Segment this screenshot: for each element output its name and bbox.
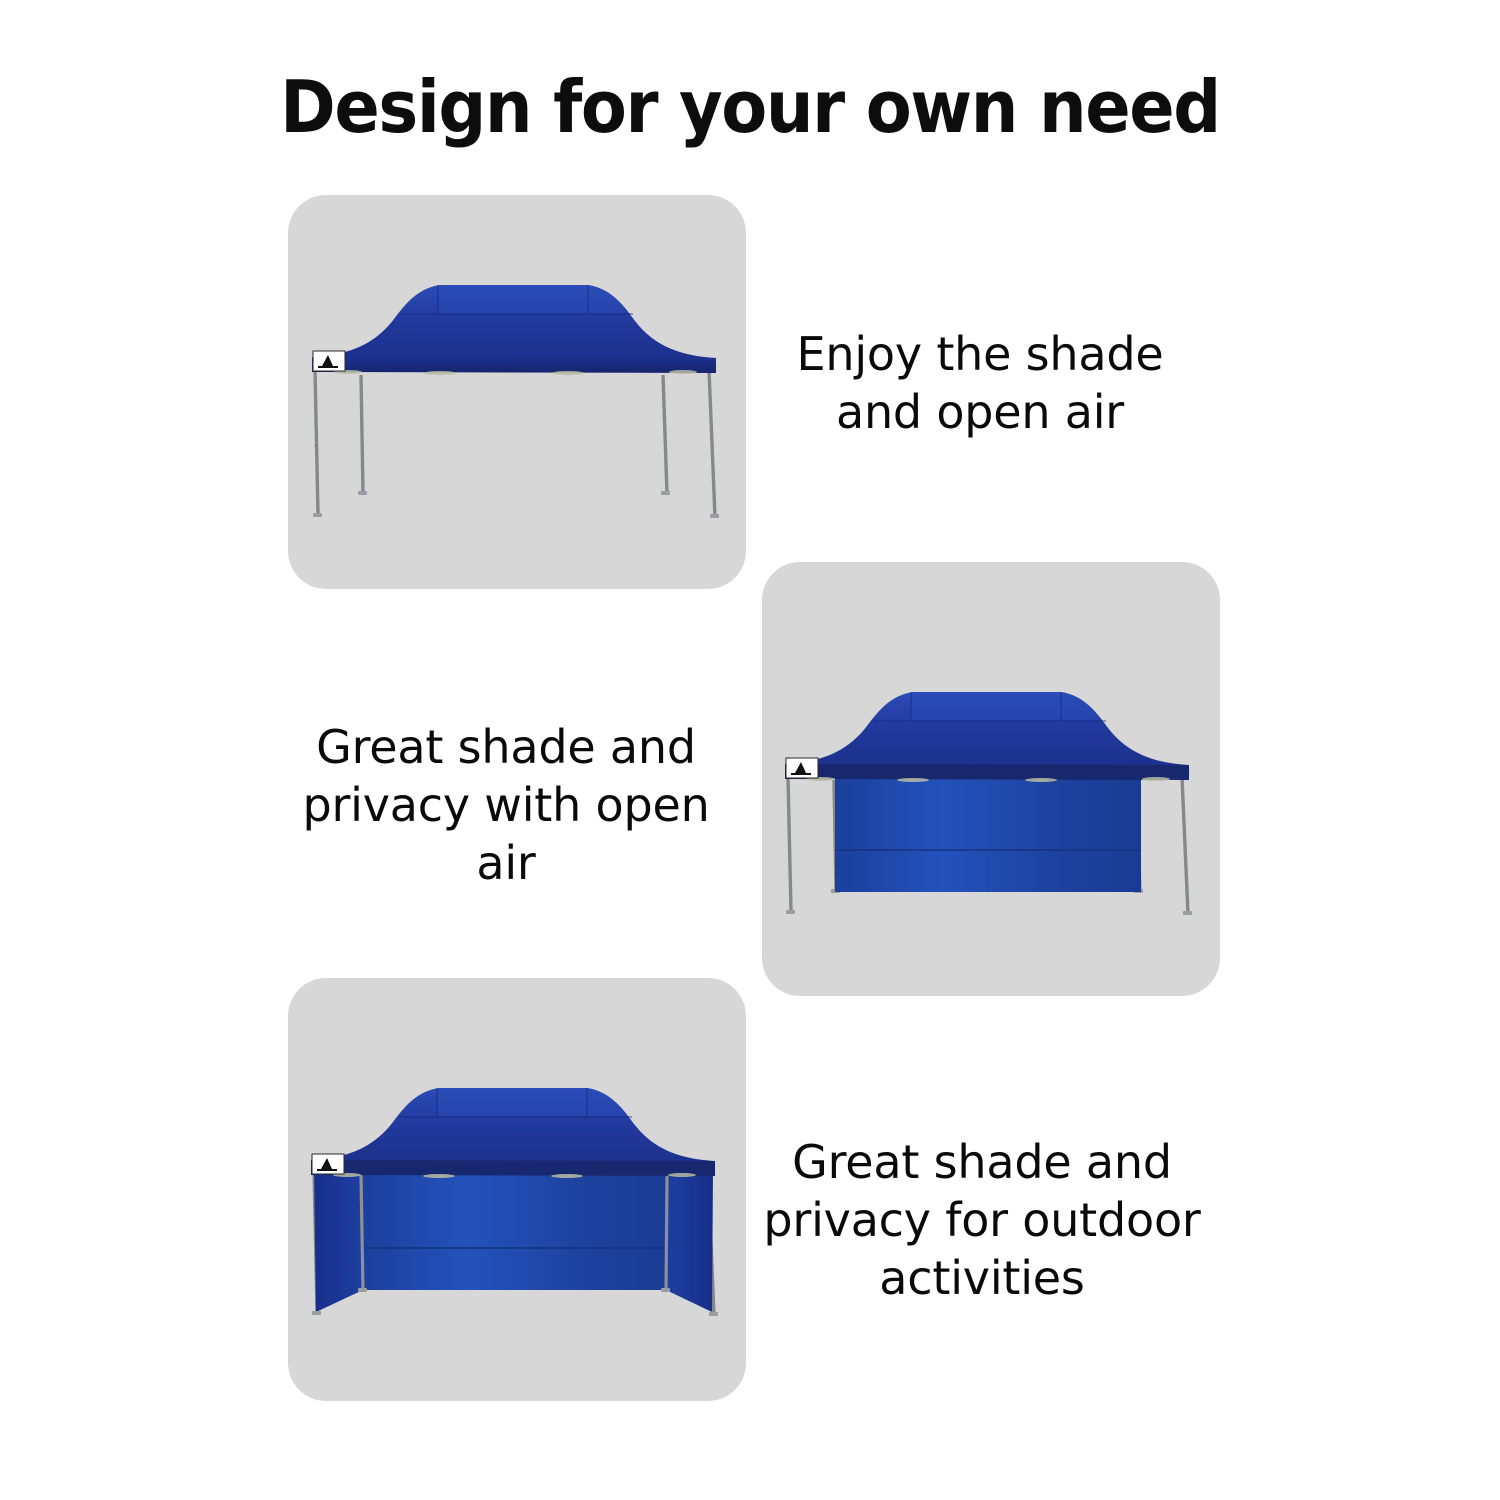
brand-logo-label [786, 758, 818, 778]
canopy-left-side-wall [314, 1168, 363, 1312]
feature-caption-three-walls: Great shade and privacy for outdoor acti… [762, 1133, 1202, 1307]
canopy-illustration-three-walls [288, 978, 746, 1401]
canopy-feet [312, 1288, 718, 1316]
brand-logo-label [313, 351, 345, 371]
canopy-back-wall [835, 774, 1141, 892]
canopy-feet [313, 491, 719, 518]
feature-image-three-walls [288, 978, 746, 1401]
feature-image-open-canopy [288, 195, 746, 589]
feature-image-one-wall [762, 562, 1220, 996]
page-title: Design for your own need [53, 66, 1448, 148]
canopy-ridge [437, 1088, 627, 1116]
feature-caption-open-canopy: Enjoy the shade and open air [760, 325, 1200, 441]
brand-logo-label [312, 1154, 344, 1174]
canopy-illustration-no-walls [288, 195, 746, 589]
canopy-valance [312, 357, 716, 373]
canopy-illustration-back-wall [762, 562, 1220, 996]
canopy-legs [315, 370, 715, 517]
canopy-ridge [911, 692, 1101, 720]
canopy-valance [785, 764, 1189, 780]
feature-caption-one-wall: Great shade and privacy with open air [275, 718, 737, 892]
canopy-feet [786, 889, 1192, 915]
infographic-page: Design for your own need [0, 0, 1500, 1500]
canopy-back-wall [361, 1171, 667, 1290]
canopy-right-side-wall [666, 1168, 713, 1312]
canopy-ridge [438, 285, 628, 313]
canopy-valance [311, 1160, 715, 1176]
